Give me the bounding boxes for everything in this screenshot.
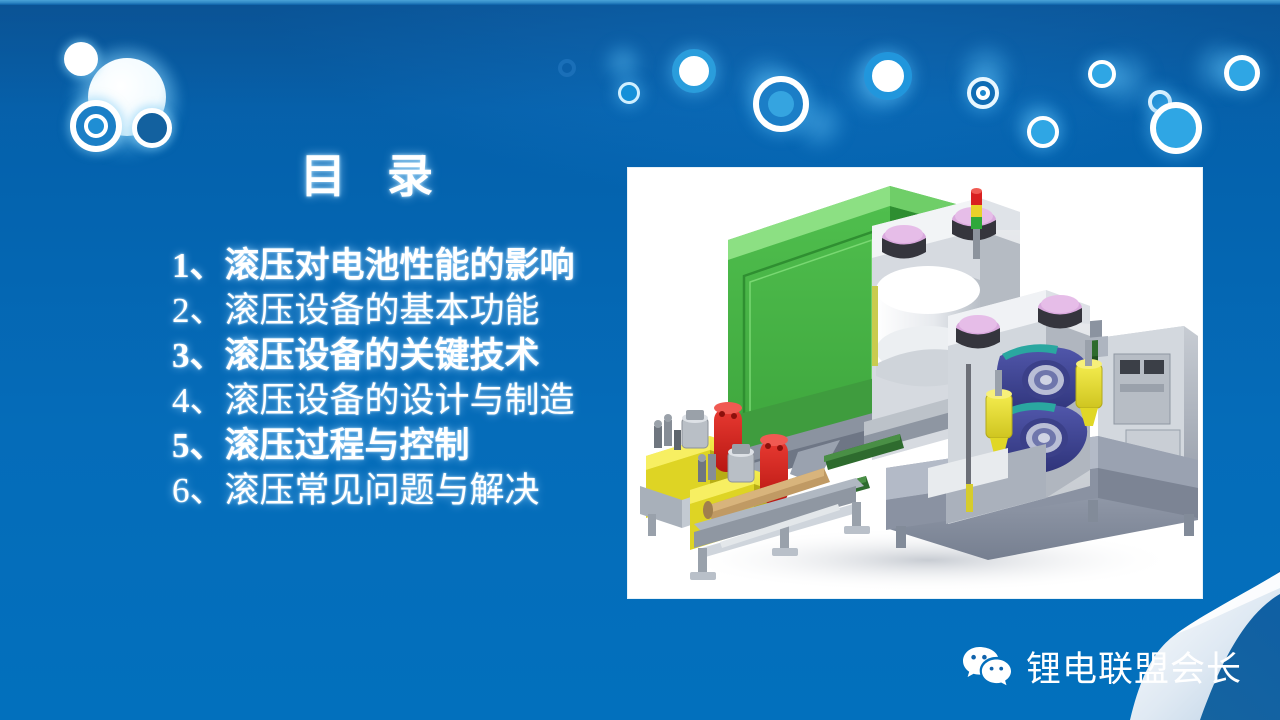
roller-housing-front xyxy=(928,290,1102,524)
wechat-icon xyxy=(961,645,1013,689)
toc-item-2[interactable]: 2、滚压设备的基本功能 xyxy=(172,288,632,333)
toc-label: 滚压过程与控制 xyxy=(225,426,470,465)
toc-number: 1、 xyxy=(172,246,225,285)
roller-cap xyxy=(1038,295,1082,329)
slide-canvas: 目 录 1、滚压对电池性能的影响 2、滚压设备的基本功能 3、滚压设备的关键技术… xyxy=(0,0,1280,720)
toc-number: 5、 xyxy=(172,426,225,465)
machine-figure xyxy=(628,168,1202,598)
toc-label: 滚压设备的关键技术 xyxy=(225,336,540,375)
toc-item-5[interactable]: 5、滚压过程与控制 xyxy=(172,423,632,468)
machine-illustration xyxy=(628,168,1202,598)
toc-number: 6、 xyxy=(172,471,225,510)
logo-ring-bubble-right xyxy=(132,108,172,148)
toc-label: 滚压设备的基本功能 xyxy=(225,291,540,330)
toc-number: 3、 xyxy=(172,336,225,375)
page-title: 目 录 xyxy=(300,140,439,206)
toc-number: 4、 xyxy=(172,381,225,420)
toc-label: 滚压设备的设计与制造 xyxy=(225,381,575,420)
toc-item-6[interactable]: 6、滚压常见问题与解决 xyxy=(172,468,632,513)
logo-small-bubble xyxy=(64,42,98,76)
toc-number: 2、 xyxy=(172,291,225,330)
table-of-contents: 1、滚压对电池性能的影响 2、滚压设备的基本功能 3、滚压设备的关键技术 4、滚… xyxy=(172,243,632,513)
bubble-cluster-logo xyxy=(48,28,198,168)
toc-item-1[interactable]: 1、滚压对电池性能的影响 xyxy=(172,243,632,288)
watermark-text: 锂电联盟会长 xyxy=(1026,641,1242,692)
top-accent-line xyxy=(0,0,1280,5)
toc-item-3[interactable]: 3、滚压设备的关键技术 xyxy=(172,333,632,378)
toc-label: 滚压常见问题与解决 xyxy=(225,471,540,510)
roller-cap xyxy=(956,315,1000,349)
logo-ring-inner-bubble xyxy=(84,114,108,138)
watermark: 锂电联盟会长 xyxy=(961,641,1242,692)
roller-cap xyxy=(882,225,926,259)
toc-item-4[interactable]: 4、滚压设备的设计与制造 xyxy=(172,378,632,423)
toc-label: 滚压对电池性能的影响 xyxy=(225,246,575,285)
